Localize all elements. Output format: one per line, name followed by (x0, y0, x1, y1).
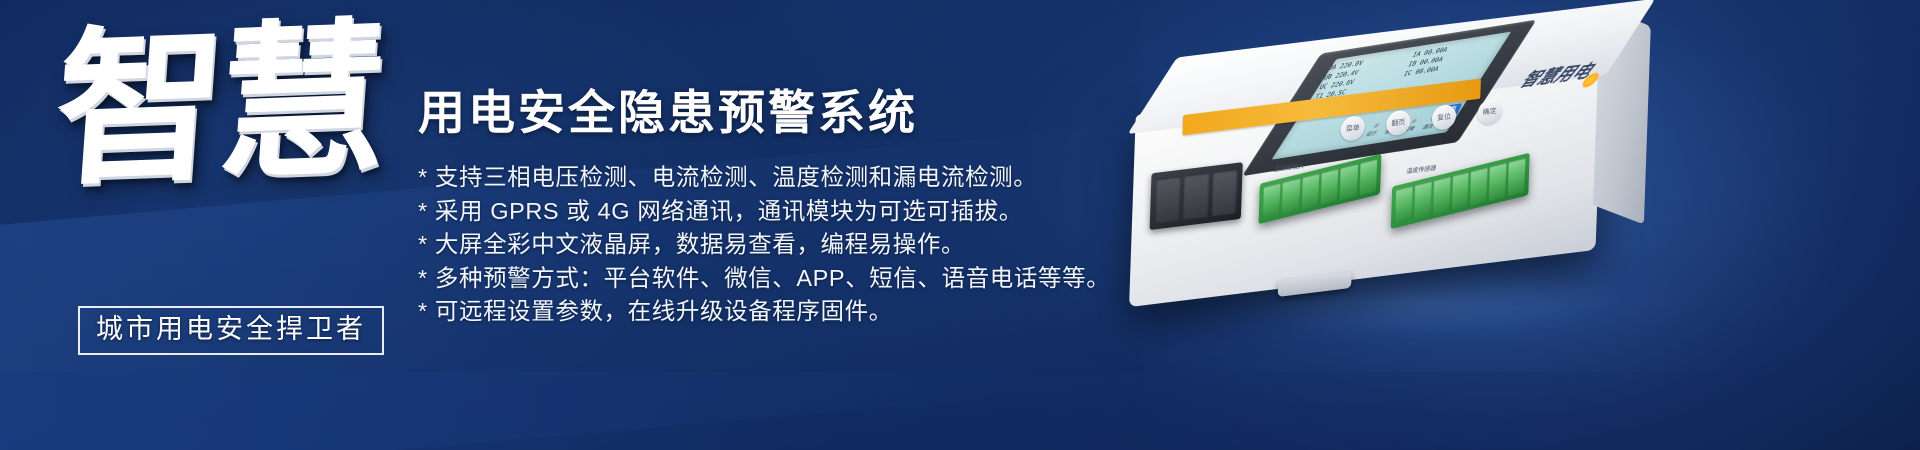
terminal-pin (1414, 181, 1432, 220)
tagline-text: 城市用电安全捍卫者 (96, 314, 366, 344)
terminal-pin (1359, 159, 1377, 196)
terminal-pin (1211, 169, 1238, 217)
terminal-pin (1282, 178, 1300, 215)
list-item: * 可远程设置参数，在线升级设备程序固件。 (418, 296, 1138, 327)
device-unit: UA 220.0V IA 00.00A UB 220.4V IB 00.00A … (1127, 0, 1693, 372)
list-item: * 采用 GPRS 或 4G 网络通讯，通讯模块为可选可插拔。 (418, 196, 1138, 227)
terminal-pin (1489, 162, 1507, 201)
terminal-pin (1451, 172, 1469, 211)
list-item: * 支持三相电压检测、电流检测、温度检测和漏电流检测。 (418, 162, 1138, 193)
promo-banner: 智慧 城市用电安全捍卫者 用电安全隐患预警系统 * 支持三相电压检测、电流检测、… (0, 0, 1920, 450)
terminal-pin (1263, 183, 1281, 220)
device-button[interactable]: 翻页 (1386, 109, 1411, 136)
terminal-pin (1183, 172, 1210, 220)
terminal-pin (1155, 176, 1182, 224)
terminal-pin (1432, 176, 1450, 215)
page-title: 用电安全隐患预警系统 (418, 86, 1138, 140)
terminal-pin (1395, 186, 1413, 225)
device-button[interactable]: 复位 (1432, 104, 1457, 131)
terminal-pin (1320, 168, 1338, 205)
terminal-pin (1470, 167, 1488, 206)
power-terminal-block (1150, 162, 1243, 230)
list-item: * 多种预警方式：平台软件、微信、APP、短信、语音电话等等。 (418, 263, 1138, 294)
device-button[interactable]: 确定 (1477, 98, 1502, 125)
terminal-pin (1508, 158, 1526, 197)
feature-list: * 支持三相电压检测、电流检测、温度检测和漏电流检测。 * 采用 GPRS 或 … (418, 162, 1138, 327)
list-item: * 大屏全彩中文液晶屏，数据易查看，编程易操作。 (418, 229, 1138, 260)
tagline-box: 城市用电安全捍卫者 (78, 306, 384, 355)
copy-block: 用电安全隐患预警系统 * 支持三相电压检测、电流检测、温度检测和漏电流检测。 *… (418, 86, 1138, 330)
calligraphy-logotype: 智慧 (44, 14, 393, 275)
terminal-pin (1301, 173, 1319, 210)
terminal-pin (1340, 164, 1358, 201)
device-button[interactable]: 菜单 (1340, 115, 1365, 142)
product-photo: UA 220.0V IA 00.00A UB 220.4V IB 00.00A … (1090, 6, 1910, 446)
